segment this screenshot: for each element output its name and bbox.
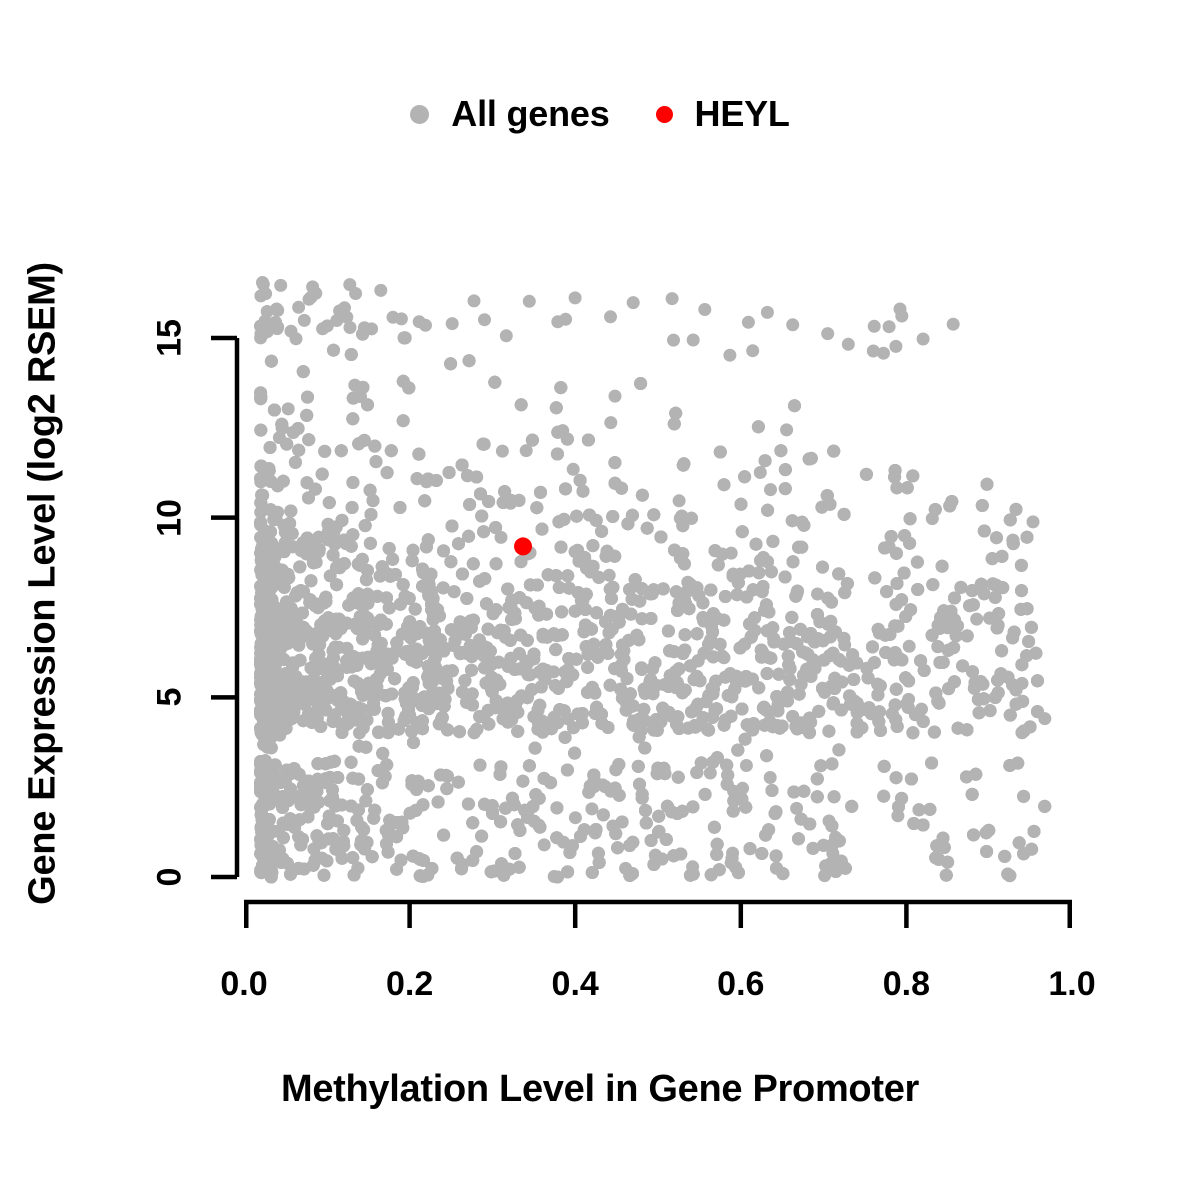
x-tick-label: 0.0	[220, 965, 267, 1004]
y-tick-label: 10	[151, 499, 190, 537]
x-tick-label: 0.2	[386, 965, 433, 1004]
y-tick-label: 0	[151, 868, 190, 887]
y-tick-label: 15	[151, 319, 190, 357]
y-axis-title-wrapper: Gene Expression Level (log2 RSEM)	[22, 0, 65, 1184]
highlight-point-heyl	[514, 537, 532, 555]
y-axis-title: Gene Expression Level (log2 RSEM)	[22, 262, 64, 905]
data-points-layer	[254, 276, 1051, 884]
plot-area	[0, 0, 1200, 1200]
x-axis-title: Methylation Level in Gene Promoter	[0, 1068, 1200, 1111]
scatter-plot-figure: All genes HEYL Methylation Level in Gene…	[0, 0, 1200, 1200]
x-tick-label: 0.6	[717, 965, 764, 1004]
highlight-points-layer	[514, 537, 532, 555]
x-tick-label: 0.4	[552, 965, 599, 1004]
x-tick-label: 1.0	[1048, 965, 1095, 1004]
x-tick-label: 0.8	[883, 965, 930, 1004]
y-tick-label: 5	[151, 688, 190, 707]
